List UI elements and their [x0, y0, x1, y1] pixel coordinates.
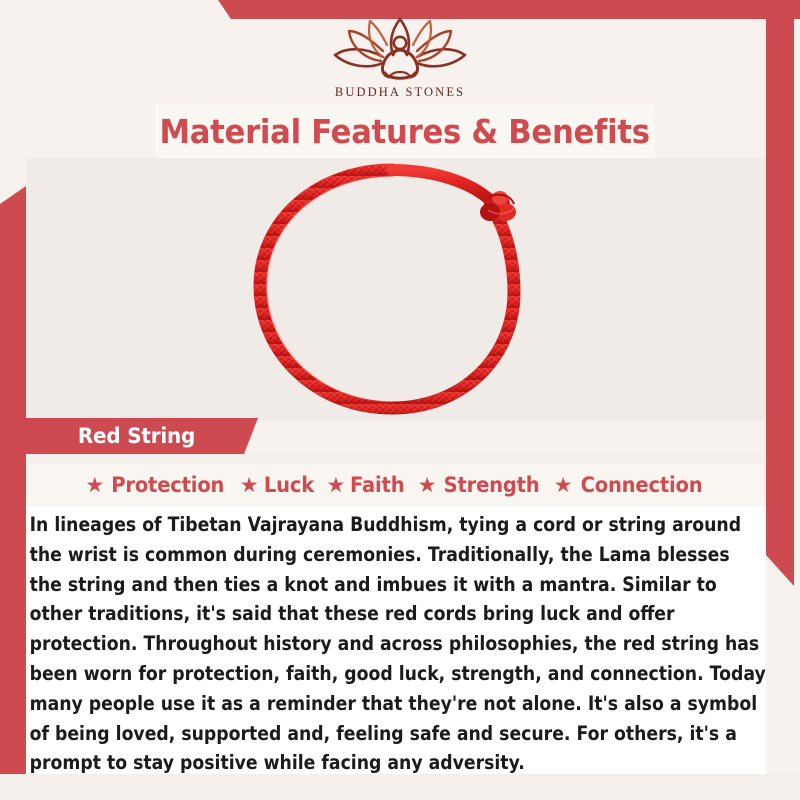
- brand-name: BUDDHA STONES: [335, 85, 465, 100]
- star-icon: ★: [85, 475, 104, 496]
- benefit-item-connection: ★ Connection: [554, 473, 707, 497]
- star-icon: ★: [240, 475, 259, 496]
- page-title: Material Features & Benefits: [160, 112, 650, 151]
- section-title: Red String: [30, 424, 195, 448]
- decor-left-bar: [0, 186, 26, 800]
- benefit-item-faith: ★ Faith: [326, 473, 406, 497]
- description-text: In lineages of Tibetan Vajrayana Buddhis…: [26, 510, 766, 778]
- description-panel: In lineages of Tibetan Vajrayana Buddhis…: [26, 506, 766, 774]
- title-band: Material Features & Benefits: [155, 104, 655, 158]
- brand-header: BUDDHA STONES: [0, 0, 800, 104]
- star-icon: ★: [326, 475, 345, 496]
- brand-logo: BUDDHA STONES: [305, 17, 495, 104]
- product-image-area: [26, 158, 766, 420]
- benefit-item-luck: ★ Luck: [240, 473, 316, 497]
- benefits-row: ★ Protection ★ Luck ★ Faith ★ Strength ★…: [26, 464, 766, 506]
- star-icon: ★: [418, 475, 437, 496]
- benefit-label: Connection: [580, 473, 702, 497]
- infographic-poster: BUDDHA STONES Material Features & Benefi…: [0, 0, 800, 800]
- red-string-bracelet-image: [222, 158, 562, 420]
- ribbon-underline: [26, 454, 766, 464]
- benefit-label: Faith: [350, 473, 404, 497]
- benefit-item-protection: ★ Protection: [85, 473, 228, 497]
- benefit-label: Luck: [263, 473, 313, 497]
- benefit-item-strength: ★ Strength: [418, 473, 543, 497]
- benefit-label: Protection: [111, 473, 224, 497]
- section-ribbon: Red String: [26, 418, 258, 454]
- star-icon: ★: [554, 475, 573, 496]
- lotus-meditation-icon: [325, 17, 475, 83]
- benefit-label: Strength: [443, 473, 539, 497]
